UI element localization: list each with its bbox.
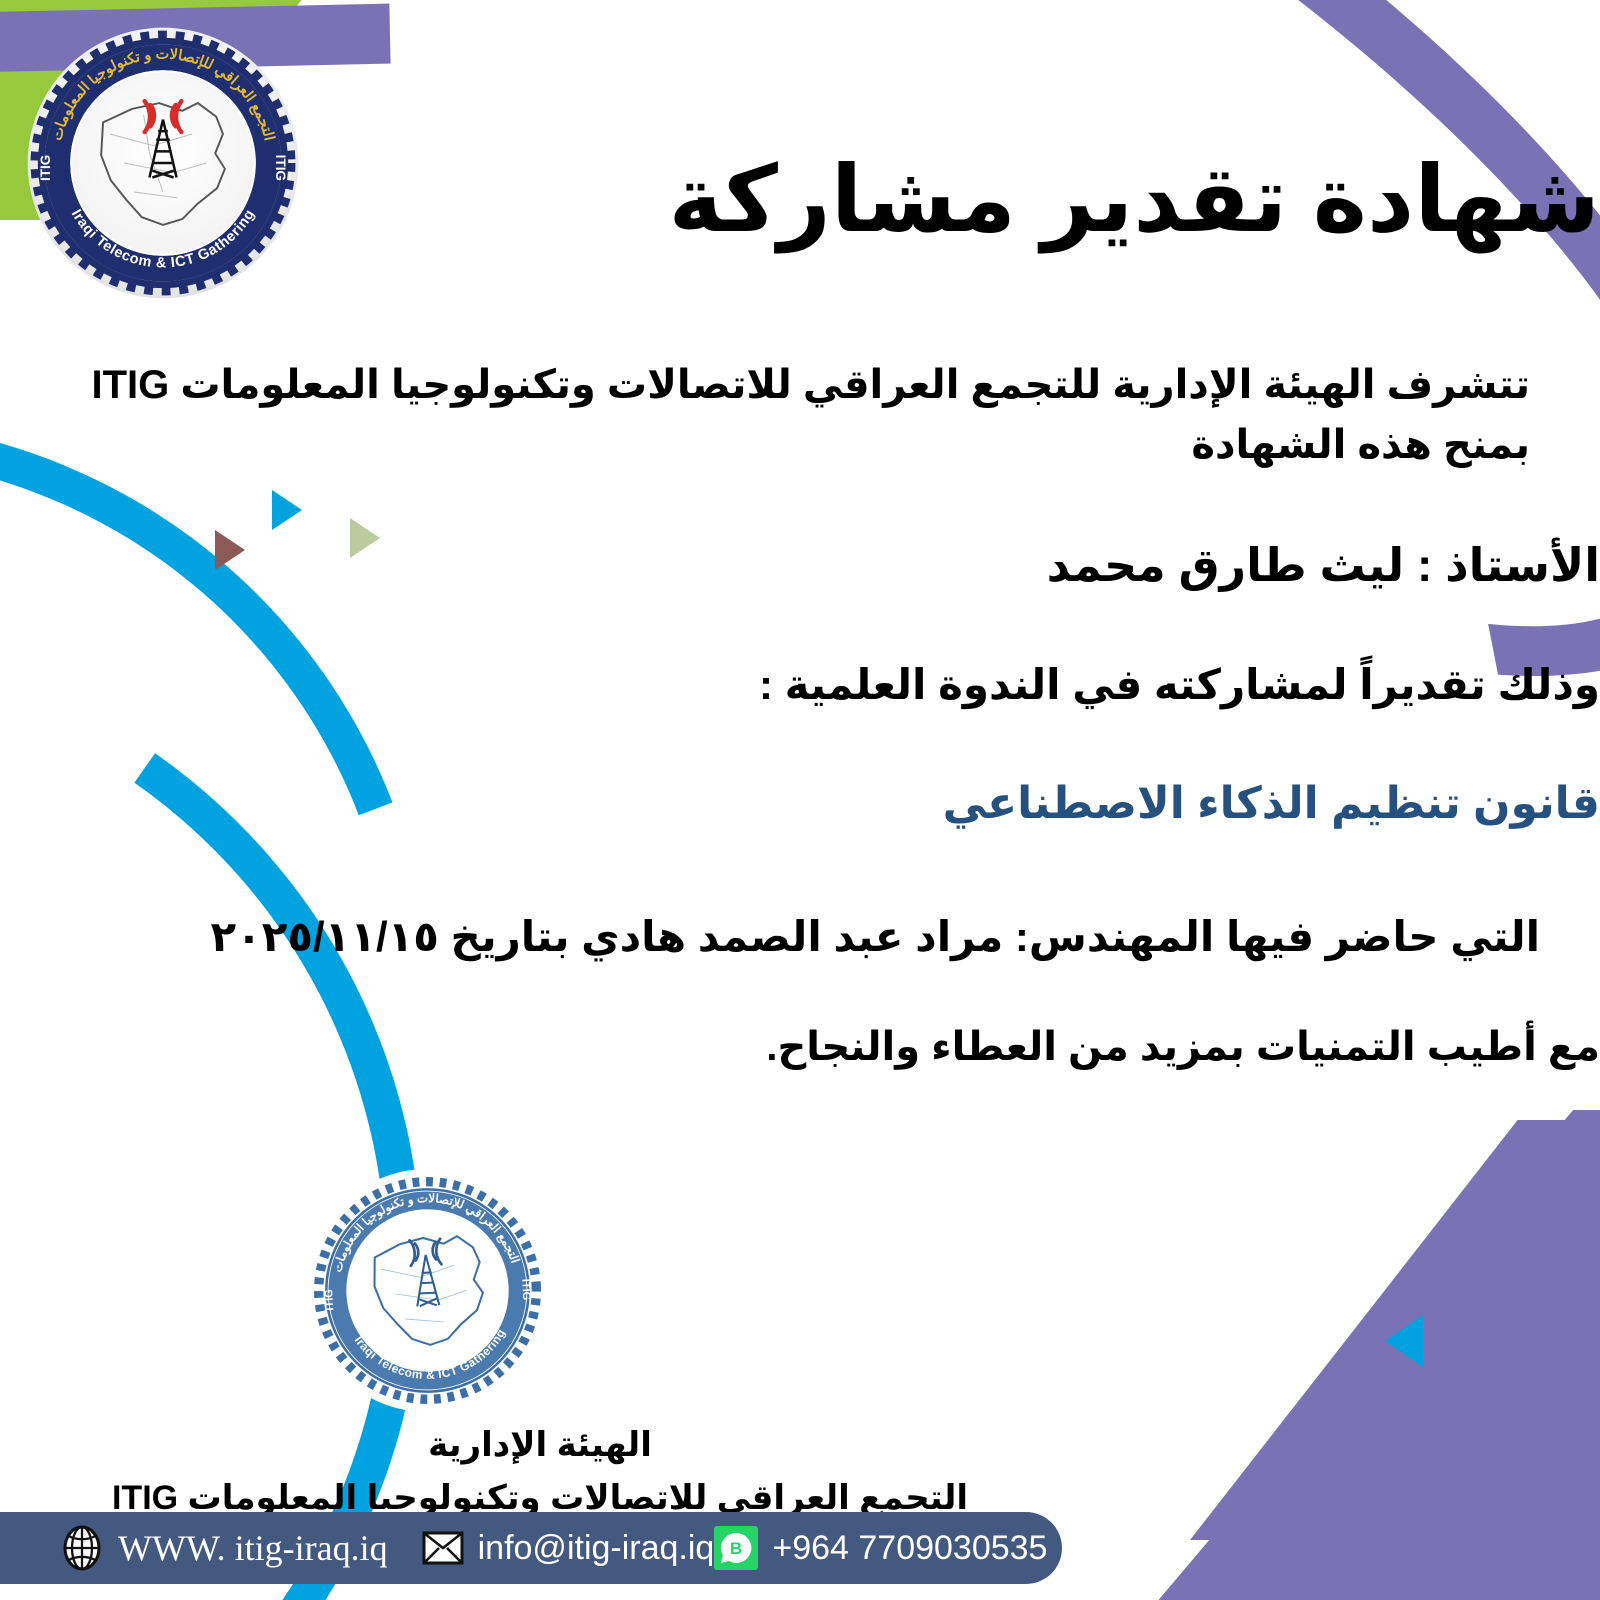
phone-number-text: +964 7709030535 [772, 1529, 1047, 1568]
certificate-title: شهادة تقدير مشاركة [0, 150, 1600, 251]
globe-icon [60, 1525, 104, 1571]
lecturer-and-date-line: التي حاضر فيها المهندس: مراد عبد الصمد ه… [60, 912, 1540, 961]
footer-contact-bar: B +964 7709030535 info@itig-iraq.iq [0, 1512, 1062, 1584]
seminar-title: قانون تنظيم الذكاء الاصطناعي [0, 778, 1600, 829]
itig-logo-bottom: التجمع العراقي للإتصالات و تكنولوجيا الم… [300, 1163, 555, 1418]
recipient-name: الأستاذ : ليث طارق محمد [0, 538, 1600, 592]
envelope-icon [422, 1531, 464, 1565]
blue-triangle-icon [272, 490, 302, 530]
website-url-text: WWW. itig-iraq.iq [118, 1527, 388, 1569]
contact-website[interactable]: WWW. itig-iraq.iq [60, 1525, 388, 1571]
svg-text:B: B [730, 1539, 742, 1558]
whatsapp-business-icon: B [714, 1526, 758, 1570]
signature-line-1: الهيئة الإدارية [0, 1425, 1080, 1465]
purple-corner-wedge-secondary-decoration [1190, 1120, 1600, 1540]
certificate-intro-paragraph: تتشرف الهيئة الإدارية للتجمع العراقي للا… [70, 355, 1530, 475]
participation-reason-text: وذلك تقديراً لمشاركته في الندوة العلمية … [0, 660, 1600, 709]
blue-triangle-bottom-icon [1385, 1315, 1423, 1367]
email-address-text: info@itig-iraq.iq [478, 1529, 715, 1568]
certificate-page: التجمع العراقي للإتصالات و تكنولوجيا الم… [0, 0, 1600, 1600]
closing-wishes-text: مع أطيب التمنيات بمزيد من العطاء والنجاح… [0, 1024, 1600, 1070]
purple-corner-wedge-decoration [1150, 1110, 1600, 1600]
contact-email[interactable]: info@itig-iraq.iq [422, 1529, 715, 1568]
logo-bottom-initials-left: ITIG [323, 1289, 336, 1311]
logo-bottom-initials-right: ITIG [519, 1279, 532, 1301]
contact-phone[interactable]: B +964 7709030535 [714, 1526, 1047, 1570]
